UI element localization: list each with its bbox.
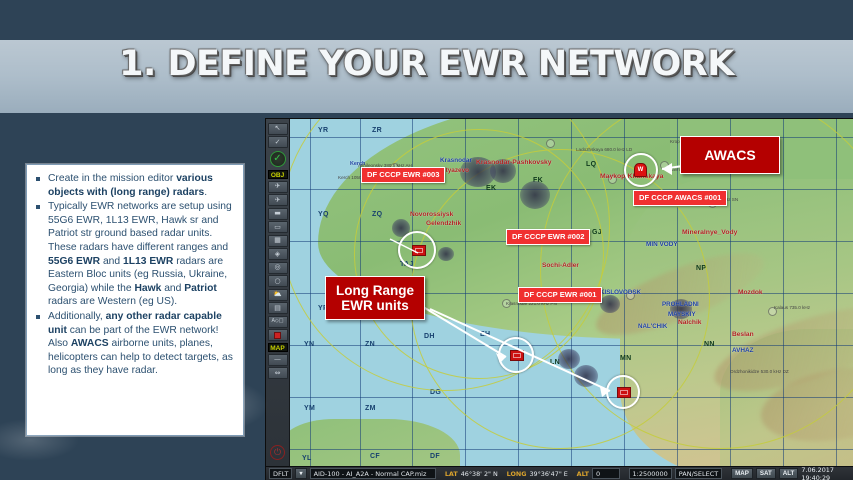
objects-section-label: OBJ xyxy=(268,170,288,179)
airbase-cluster xyxy=(574,365,598,387)
city-label: AVHAZ xyxy=(732,347,754,354)
preset-dropdown-icon[interactable]: ▾ xyxy=(295,468,306,479)
page-title: 1. DEFINE YOUR EWR NETWORK xyxy=(0,44,853,84)
weather-icon[interactable]: ⛅ xyxy=(268,289,288,301)
city-label: Beslan xyxy=(732,331,754,338)
callout-long-range-ewr: Long Range EWR units xyxy=(325,276,425,320)
waypoint-icon[interactable]: ◈ xyxy=(268,248,288,260)
city-label: KISLOVODSK xyxy=(600,289,641,296)
city-label: NAL'CHIK xyxy=(638,323,667,330)
grid-line xyxy=(290,449,853,450)
callout-awacs: AWACS xyxy=(680,136,780,174)
alt-layer-button[interactable]: ALT xyxy=(779,468,799,479)
long-value: 39°36'47" E xyxy=(529,470,567,478)
map-scale-field[interactable]: 1:2500000 xyxy=(629,468,672,479)
unit-tag-ewr002[interactable]: DF CCCP EWR #002 xyxy=(506,229,590,245)
grid-label: YM xyxy=(304,405,315,412)
city-label: Krasnodar xyxy=(440,157,472,164)
grid-label: YN xyxy=(304,341,314,348)
city-label: Gelendzhik xyxy=(426,220,461,227)
unit-marker-ewr001[interactable] xyxy=(617,387,631,398)
city-label: Mineralnye_Vody xyxy=(682,229,737,236)
editor-toolbar[interactable]: ↖ ✓ ✓ OBJ ✈ ✈ ▬ ▭ ▦ ◈ ◎ ○ ⛅ ▤ A◇□ MAP — … xyxy=(266,119,290,466)
status-bar: DFLT ▾ AID-100 - AI_A2A - Normal CAP.miz… xyxy=(266,466,853,480)
city-label: MAYSKIY xyxy=(668,311,696,318)
check-mark-icon[interactable]: ✓ xyxy=(268,136,288,148)
stop-icon[interactable] xyxy=(268,329,288,341)
slide-background: 1. DEFINE YOUR EWR NETWORK Create in the… xyxy=(0,0,853,480)
grid-label: CF xyxy=(370,453,380,460)
unit-tag-ewr001[interactable]: DF CCCP EWR #001 xyxy=(518,287,602,303)
callout-line-1: Long Range xyxy=(336,283,414,298)
grid-label: YL xyxy=(302,455,312,462)
alt-input[interactable]: 0 xyxy=(592,468,620,479)
navaid-label: Ladozhskaya 680.0 kHz LD xyxy=(576,147,632,152)
unit-marker-ewr002[interactable] xyxy=(510,350,524,361)
mission-datetime: 7.06.2017 19:40:29 xyxy=(801,466,850,480)
navaid-marker xyxy=(546,139,555,148)
distance-tool-icon[interactable]: ⇔ xyxy=(268,367,288,379)
select-arrow-icon[interactable]: ↖ xyxy=(268,123,288,135)
failures-icon[interactable]: A◇□ xyxy=(268,316,288,328)
power-icon[interactable]: ⏻ xyxy=(270,445,285,460)
unit-tag-ewr003[interactable]: DF CCCP EWR #003 xyxy=(361,167,445,183)
lat-value: 46°38' 2" N xyxy=(461,470,498,478)
mission-filename-field[interactable]: AID-100 - AI_A2A - Normal CAP.miz xyxy=(310,468,436,479)
validate-mission-icon[interactable]: ✓ xyxy=(270,151,286,167)
map-section-label: MAP xyxy=(268,343,288,352)
airbase-cluster xyxy=(520,181,550,209)
left-info-panel: Create in the mission editor various obj… xyxy=(26,164,244,436)
list-item: Typically EWR networks are setup using 5… xyxy=(33,200,235,309)
airbase-cluster xyxy=(600,295,620,313)
city-label: Nalchik xyxy=(678,319,701,326)
ruler-tool-icon[interactable]: — xyxy=(268,354,288,366)
grid-label: ZM xyxy=(365,405,376,412)
list-item: Create in the mission editor various obj… xyxy=(33,172,235,199)
grid-label: DF xyxy=(430,453,440,460)
city-label: Mozdok xyxy=(738,289,763,296)
unit-marker-ewr003[interactable] xyxy=(412,245,426,256)
alt-label: ALT xyxy=(577,470,589,478)
coalition-icon[interactable]: ▤ xyxy=(268,302,288,314)
city-label: Krasnodar-Pashkovsky xyxy=(476,159,552,166)
helicopter-unit-icon[interactable]: ✈ xyxy=(268,194,288,206)
sat-layer-button[interactable]: SAT xyxy=(756,468,776,479)
navaid-label: Kalaus 735.0 kHz xyxy=(774,305,810,310)
callout-line-2: EWR units xyxy=(336,298,414,313)
ground-unit-icon[interactable]: ▬ xyxy=(268,208,288,220)
navaid-label: Ordzhonikidze 530.0 kHz DZ xyxy=(730,369,789,374)
long-label: LONG xyxy=(507,470,527,478)
map-mode-field[interactable]: PAN/SELECT xyxy=(675,468,722,479)
city-label: PROHLADNI xyxy=(662,301,699,308)
list-item: Additionally, any other radar capable un… xyxy=(33,310,235,378)
city-label: Novorossiysk xyxy=(410,211,453,218)
trigger-zone-icon[interactable]: ◎ xyxy=(268,262,288,274)
airbase-cluster xyxy=(438,247,454,261)
awacs-unit-marker[interactable]: W xyxy=(634,163,647,177)
airbase-cluster xyxy=(558,349,580,369)
map-layer-button[interactable]: MAP xyxy=(731,468,753,479)
ship-unit-icon[interactable]: ▭ xyxy=(268,221,288,233)
preset-field[interactable]: DFLT xyxy=(269,468,292,479)
unit-tag-awacs001[interactable]: DF CCCP AWACS #001 xyxy=(633,190,727,206)
red-square-glyph xyxy=(274,332,281,339)
city-label: Sochi-Adler xyxy=(542,262,579,269)
static-object-icon[interactable]: ▦ xyxy=(268,235,288,247)
lat-label: LAT xyxy=(445,470,458,478)
city-label: MIN VODY xyxy=(646,241,678,248)
left-bullet-list: Create in the mission editor various obj… xyxy=(33,172,235,378)
circle-zone-icon[interactable]: ○ xyxy=(268,275,288,287)
plane-unit-icon[interactable]: ✈ xyxy=(268,181,288,193)
